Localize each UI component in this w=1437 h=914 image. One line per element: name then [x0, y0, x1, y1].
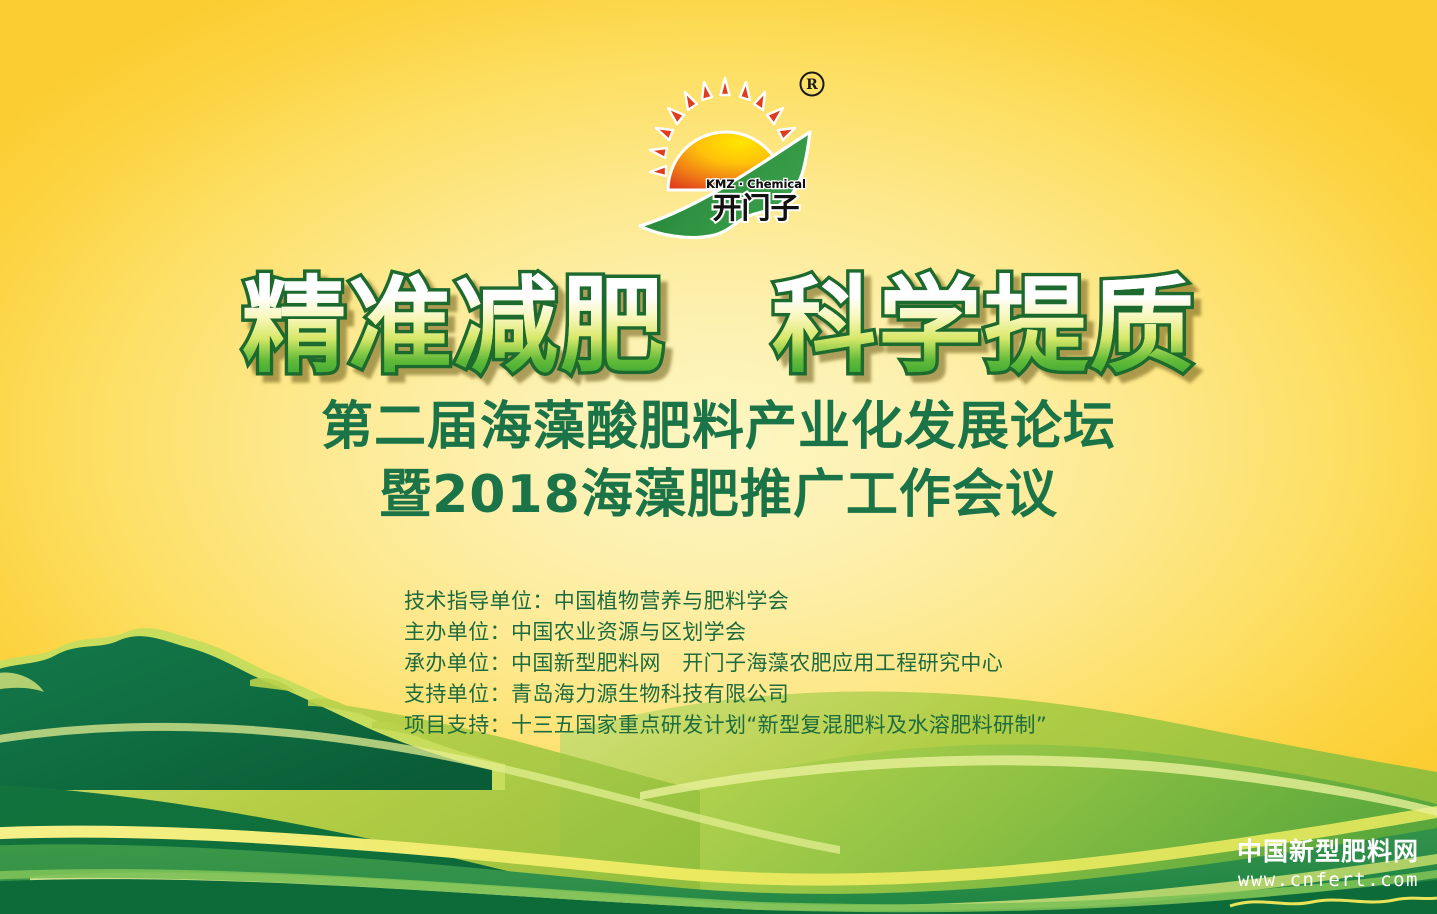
conference-banner: R KMZ · Chemical KMZ · Chemical 开门子 开门子: [0, 0, 1437, 914]
headline-slogan: 精准减肥 科学提质 精准减肥 科学提质: [0, 262, 1437, 392]
organizer-details: 技术指导单位：中国植物营养与肥料学会 主办单位：中国农业资源与区划学会 承办单位…: [404, 586, 1304, 741]
detail-line-project-support: 项目支持：十三五国家重点研发计划“新型复混肥料及水溶肥料研制”: [404, 710, 1304, 741]
watermark-site-name: 中国新型肥料网: [1237, 838, 1419, 866]
subtitle-block: 第二届海藻酸肥料产业化发展论坛 暨2018海藻肥推广工作会议: [0, 398, 1437, 524]
detail-line-technical-guidance: 技术指导单位：中国植物营养与肥料学会: [404, 586, 1304, 617]
detail-line-supporter: 支持单位：青岛海力源生物科技有限公司: [404, 679, 1304, 710]
logo-cn-text-fill: 开门子: [712, 191, 799, 225]
detail-line-organizer: 承办单位：中国新型肥料网 开门子海藻农肥应用工程研究中心: [404, 648, 1304, 679]
subtitle-line-1: 第二届海藻酸肥料产业化发展论坛: [0, 398, 1437, 456]
watermark-url[interactable]: www.cnfert.com: [1237, 868, 1419, 892]
headline-text-overlay: 精准减肥 科学提质: [241, 265, 1195, 387]
logo-latin-text-fill: KMZ · Chemical: [706, 177, 806, 191]
subtitle-line-2: 暨2018海藻肥推广工作会议: [0, 466, 1437, 524]
svg-text:R: R: [806, 77, 818, 93]
registered-mark-icon: R: [801, 73, 824, 96]
detail-line-host: 主办单位：中国农业资源与区划学会: [404, 617, 1304, 648]
kaimenzi-chemical-logo: R KMZ · Chemical KMZ · Chemical 开门子 开门子: [626, 62, 831, 242]
site-watermark: 中国新型肥料网 www.cnfert.com: [1237, 838, 1419, 892]
